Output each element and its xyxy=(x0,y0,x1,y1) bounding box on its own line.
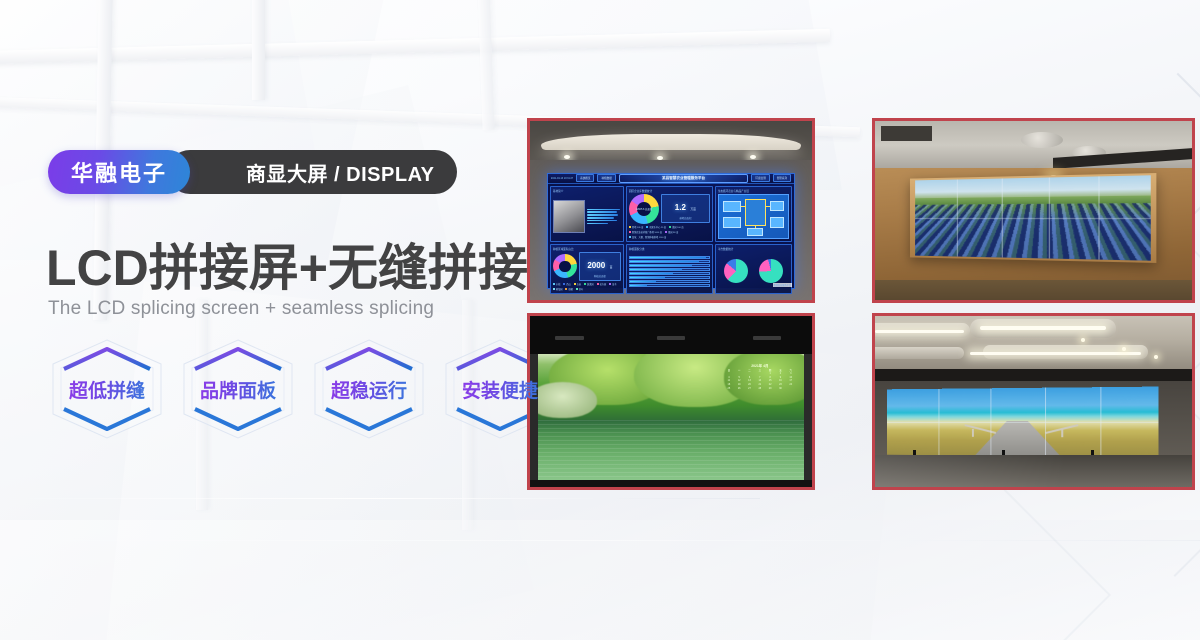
calendar-day: 7 xyxy=(755,376,765,379)
legend-item: 茶叶 xyxy=(576,287,583,291)
pie-chart xyxy=(759,259,783,283)
calendar-weekday: 一 xyxy=(734,369,744,372)
calendar-day: 8 xyxy=(765,376,775,379)
calendar-day: 21 xyxy=(755,383,765,386)
calendar-day: 16 xyxy=(776,379,786,382)
pie-chart xyxy=(724,259,748,283)
legend-item: 玉米 xyxy=(574,282,581,286)
calendar-day: 23 xyxy=(776,383,786,386)
wall-top-bezel xyxy=(530,316,812,354)
dashboard-card: 园区企业库数据统计 12605.6 总面积 1.2 万亩 基地总面积 xyxy=(626,186,713,242)
calendar-grid: 日一二三四五六123456789101112131415161718192021… xyxy=(724,369,796,391)
calendar-day: 25 xyxy=(724,387,734,390)
bar xyxy=(629,260,710,263)
dashboard-tab[interactable]: 环境监测 xyxy=(751,174,769,182)
product-photo-grid: 2021-04-13 10:31:27 系统概览 种植数据 某县智慧农业管理服务… xyxy=(527,118,1195,490)
photo-beach-boardwalk-video-wall[interactable] xyxy=(872,313,1195,490)
feature-item-1: 品牌面板 xyxy=(179,336,297,442)
legend-item: 用地 105 亩 xyxy=(629,225,643,229)
legend-item: 柑橘 xyxy=(565,287,572,291)
dashboard-header: 2021-04-13 10:31:27 系统概览 种植数据 某县智慧农业管理服务… xyxy=(548,174,794,184)
brand-badge: 商显大屏 / DISPLAY 华融电子 xyxy=(48,150,190,194)
metric-unit: 亩 xyxy=(610,265,613,269)
calendar-weekday: 日 xyxy=(724,369,734,372)
dashboard-tab[interactable]: 种植数据 xyxy=(597,174,615,182)
metric-value: 2000 xyxy=(587,261,605,270)
photo-willow-lake-video-wall[interactable]: 2021年 4月 日一二三四五六123456789101112131415161… xyxy=(527,313,815,490)
legend-item: 菜园 100 亩 xyxy=(669,225,683,229)
calendar-day xyxy=(745,372,755,375)
dashboard-footer: 智慧农业服务平台 xyxy=(773,283,793,287)
promo-banner: 商显大屏 / DISPLAY 华融电子 LCD拼接屏+无缝拼接 The LCD … xyxy=(0,0,1200,640)
calendar-day: 6 xyxy=(745,376,755,379)
calendar-day: 13 xyxy=(745,379,755,382)
card-title: 生态循环农业与精品产业链 xyxy=(718,189,789,193)
video-wall-screen: 2021年 4月 日一二三四五六123456789101112131415161… xyxy=(538,354,803,482)
calendar-day: 3 xyxy=(786,372,796,375)
calendar-day: 10 xyxy=(786,376,796,379)
video-wall-screen xyxy=(887,386,1158,457)
calendar-day: 22 xyxy=(765,383,775,386)
calendar-day: 5 xyxy=(734,376,744,379)
video-wall-frame xyxy=(910,173,1157,263)
bar xyxy=(629,284,710,287)
calendar-weekday: 五 xyxy=(776,369,786,372)
bar xyxy=(629,276,710,279)
page-subtitle: The LCD splicing screen + seamless splic… xyxy=(48,298,434,320)
legend-item: 苗木 xyxy=(609,282,616,286)
feature-label: 品牌面板 xyxy=(200,376,276,403)
legend-item: 温室、大棚、智慧种植基地 1100 亩 xyxy=(629,235,666,239)
dashboard-screen: 2021-04-13 10:31:27 系统概览 种植数据 某县智慧农业管理服务… xyxy=(547,173,795,289)
calendar-weekday: 四 xyxy=(765,369,775,372)
calendar-day: 26 xyxy=(734,387,744,390)
calendar-day xyxy=(786,387,796,390)
chart-legend: 用地 105 亩 农家乐中心 25 亩 菜园 100 亩 智慧农业技术推广基地 … xyxy=(629,225,710,239)
feature-label: 安装便捷 xyxy=(462,376,538,403)
legend-item: 花卉园 xyxy=(597,282,607,286)
metric-sub: 基地总面积 xyxy=(662,216,709,220)
calendar-day xyxy=(755,372,765,375)
legend-item: 葡萄园 xyxy=(553,287,563,291)
photo-wood-room-solar-video-wall[interactable] xyxy=(872,118,1195,303)
legend-item: 水稻 xyxy=(553,282,560,286)
dashboard-tab[interactable]: 管理系列 xyxy=(773,174,791,182)
feature-item-0: 超低拼缝 xyxy=(48,336,166,442)
dashboard-tab[interactable]: 系统概览 xyxy=(576,174,594,182)
card-title: 基地简介 xyxy=(553,189,621,193)
dashboard-title: 某县智慧农业管理服务平台 xyxy=(619,174,748,183)
legend-item: 农家乐中心 25 亩 xyxy=(646,225,666,229)
calendar-day: 20 xyxy=(745,383,755,386)
calendar-overlay: 2021年 4月 日一二三四五六123456789101112131415161… xyxy=(724,363,796,419)
metric-card: 2000 亩 种植总面积 xyxy=(579,252,621,281)
dashboard-card: 种植面积分类 xyxy=(626,244,713,294)
bar-chart xyxy=(629,252,710,291)
calendar-day: 4 xyxy=(724,376,734,379)
metric-card: 1.2 万亩 基地总面积 xyxy=(661,194,710,223)
metric-value: 1.2 xyxy=(675,203,686,212)
calendar-title: 2021年 4月 xyxy=(724,363,796,368)
dashboard-card: 生态循环农业与精品产业链 xyxy=(715,186,792,242)
calendar-day: 9 xyxy=(776,376,786,379)
card-title: 种植区域面积占比 xyxy=(553,247,621,251)
legend-item: 西瓜 xyxy=(563,282,570,286)
donut-center-label: 12605.6 总面积 xyxy=(629,194,659,224)
card-title: 种植面积分类 xyxy=(629,247,710,251)
calendar-day: 2 xyxy=(776,372,786,375)
dashboard-card: 基地简介 xyxy=(550,186,624,242)
calendar-day: 17 xyxy=(786,379,796,382)
bar xyxy=(629,264,710,267)
donut-chart xyxy=(553,254,577,278)
card-thumbnail xyxy=(553,200,585,232)
calendar-day: 18 xyxy=(724,383,734,386)
metric-unit: 万亩 xyxy=(690,207,696,211)
bar xyxy=(629,280,710,283)
donut-chart: 12605.6 总面积 xyxy=(629,194,659,224)
legend-item: 果园 98 亩 xyxy=(665,230,678,234)
card-title: 园区企业库数据统计 xyxy=(629,189,710,193)
flow-diagram xyxy=(718,194,789,239)
calendar-day: 12 xyxy=(734,379,744,382)
dashboard-date: 2021-04-13 10:31:27 xyxy=(551,177,573,180)
bar xyxy=(629,268,710,271)
chart-legend: 水稻 西瓜 玉米 蔬菜园 花卉园 苗木 葡萄园 柑橘 茶叶 xyxy=(553,282,621,291)
badge-brand: 华融电子 xyxy=(48,150,190,194)
card-text-lines xyxy=(587,209,621,225)
feature-label: 超稳运行 xyxy=(331,376,407,403)
calendar-day: 15 xyxy=(765,379,775,382)
calendar-day xyxy=(734,372,744,375)
calendar-day: 11 xyxy=(724,379,734,382)
feature-label: 超低拼缝 xyxy=(69,376,145,403)
dashboard-card: 种植区域面积占比 2000 亩 种植总面积 水稻 xyxy=(550,244,624,294)
card-title: 平台数据统计 xyxy=(718,247,789,251)
bar xyxy=(629,272,710,275)
video-wall-screen xyxy=(915,176,1151,262)
feature-item-2: 超稳运行 xyxy=(310,336,428,442)
bar xyxy=(629,256,710,259)
legend-item: 蔬菜园 xyxy=(584,282,594,286)
calendar-day: 14 xyxy=(755,379,765,382)
page-title: LCD拼接屏+无缝拼接 xyxy=(46,228,528,300)
feature-list: 超低拼缝 品牌面板 超稳运行 xyxy=(48,336,559,442)
metric-sub: 种植总面积 xyxy=(580,274,620,278)
photo-control-room-dashboard[interactable]: 2021-04-13 10:31:27 系统概览 种植数据 某县智慧农业管理服务… xyxy=(527,118,815,303)
calendar-weekday: 二 xyxy=(745,369,755,372)
calendar-day: 24 xyxy=(786,383,796,386)
calendar-day: 19 xyxy=(734,383,744,386)
badge-category: 商显大屏 / DISPLAY xyxy=(168,150,457,194)
calendar-day xyxy=(724,372,734,375)
calendar-day: 28 xyxy=(755,387,765,390)
legend-item: 智慧农业技术推广基地 1000 亩 xyxy=(629,230,662,234)
calendar-weekday: 三 xyxy=(755,369,765,372)
calendar-day: 27 xyxy=(745,387,755,390)
calendar-weekday: 六 xyxy=(786,369,796,372)
calendar-day: 30 xyxy=(776,387,786,390)
calendar-day: 29 xyxy=(765,387,775,390)
calendar-day: 1 xyxy=(765,372,775,375)
